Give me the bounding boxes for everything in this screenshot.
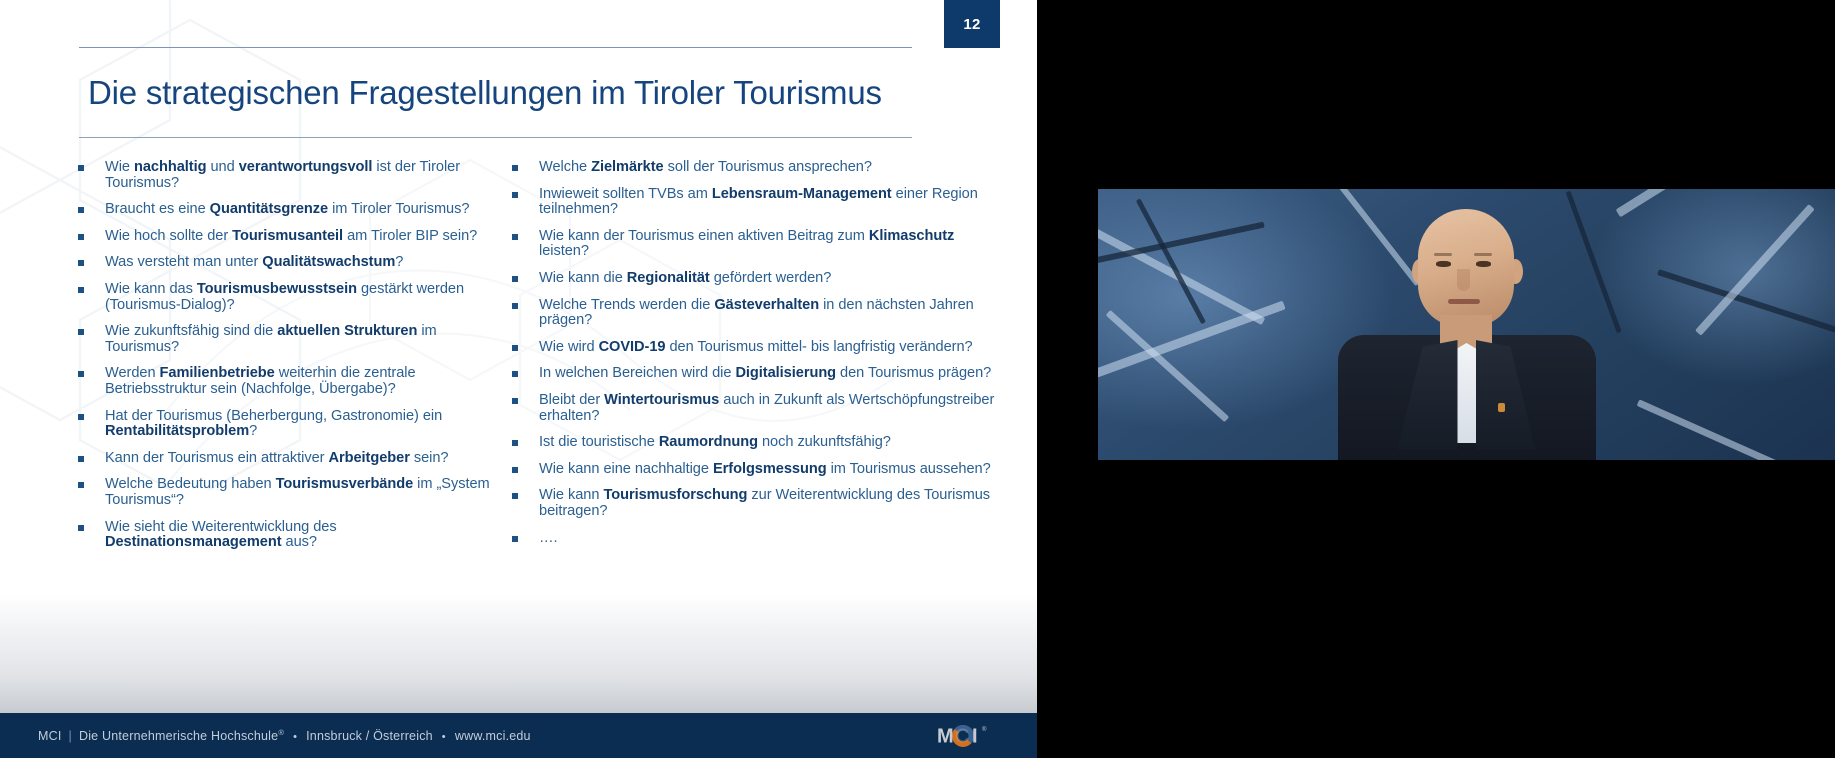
title-rule-bottom [79, 137, 912, 138]
slide-footer: MCI|Die Unternehmerische Hochschule®•Inn… [0, 713, 1037, 758]
left-bullet-list: Wie nachhaltig und verantwortungsvoll is… [72, 160, 500, 551]
page-number-value: 12 [963, 16, 980, 33]
bullet-item: Wie kann eine nachhaltige Erfolgsmessung… [506, 462, 1000, 478]
bullet-item: Kann der Tourismus ein attraktiver Arbei… [72, 451, 500, 467]
bullet-item: Wie kann der Tourismus einen aktiven Bei… [506, 229, 1000, 260]
svg-text:®: ® [982, 726, 987, 733]
left-column: Wie nachhaltig und verantwortungsvoll is… [0, 160, 500, 562]
bullet-item: Braucht es eine Quantitätsgrenze im Tiro… [72, 202, 500, 218]
svg-text:M: M [937, 726, 954, 748]
slide-bottom-haze [0, 593, 1037, 713]
page-number-badge: 12 [944, 0, 1000, 48]
content-columns: Wie nachhaltig und verantwortungsvoll is… [0, 160, 1037, 562]
bullet-item: Hat der Tourismus (Beherbergung, Gastron… [72, 409, 500, 440]
bullet-item: Wie zukunftsfähig sind die aktuellen Str… [72, 324, 500, 355]
participant-figure [1302, 207, 1632, 460]
webcam-video-tile[interactable] [1098, 189, 1835, 460]
footer-website[interactable]: www.mci.edu [455, 729, 531, 743]
bullet-item: Was versteht man unter Qualitätswachstum… [72, 255, 500, 271]
footer-location: Innsbruck / Österreich [306, 729, 433, 743]
bullet-item: Inwieweit sollten TVBs am Lebensraum-Man… [506, 187, 1000, 218]
lapel-pin-icon [1498, 403, 1505, 412]
bullet-item: Wie nachhaltig und verantwortungsvoll is… [72, 160, 500, 191]
footer-brand: MCI [38, 729, 62, 743]
bullet-item: …. [506, 531, 1000, 547]
bullet-item: Wie kann das Tourismusbewusstsein gestär… [72, 282, 500, 313]
bullet-item: Wie hoch sollte der Tourismusanteil am T… [72, 229, 500, 245]
bullet-item: Wie sieht die Weiterentwicklung des Dest… [72, 520, 500, 551]
right-bullet-list: Welche Zielmärkte soll der Tourismus ans… [506, 160, 1000, 546]
presentation-slide: 12 Die strategischen Fragestellungen im … [0, 0, 1037, 758]
svg-text:C: C [955, 726, 969, 748]
video-panel [1037, 0, 1835, 758]
svg-text:I: I [972, 726, 978, 748]
bullet-item: Ist die touristische Raumordnung noch zu… [506, 435, 1000, 451]
footer-separator: | [69, 729, 72, 743]
bullet-item: Werden Familienbetriebe weiterhin die ze… [72, 366, 500, 397]
footer-dot-1: • [293, 731, 297, 743]
title-rule-top [79, 47, 912, 48]
bullet-item: Wie wird COVID-19 den Tourismus mittel- … [506, 340, 1000, 356]
footer-text: MCI|Die Unternehmerische Hochschule®•Inn… [38, 728, 531, 743]
bullet-item: Wie kann die Regionalität gefördert werd… [506, 271, 1000, 287]
bullet-item: Wie kann Tourismusforschung zur Weiteren… [506, 488, 1000, 519]
footer-dot-2: • [442, 731, 446, 743]
bullet-item: Welche Trends werden die Gästeverhalten … [506, 298, 1000, 329]
registered-mark-icon: ® [278, 728, 284, 737]
bullet-item: Welche Bedeutung haben Tourismusverbände… [72, 477, 500, 508]
bullet-item: In welchen Bereichen wird die Digitalisi… [506, 366, 1000, 382]
right-column: Welche Zielmärkte soll der Tourismus ans… [500, 160, 1000, 562]
screen: 12 Die strategischen Fragestellungen im … [0, 0, 1835, 758]
mci-logo-icon: M I C ® [935, 722, 997, 750]
bullet-item: Bleibt der Wintertourismus auch in Zukun… [506, 393, 1000, 424]
footer-tagline: Die Unternehmerische Hochschule [79, 729, 278, 743]
bullet-item: Welche Zielmärkte soll der Tourismus ans… [506, 160, 1000, 176]
page-title: Die strategischen Fragestellungen im Tir… [88, 62, 928, 124]
